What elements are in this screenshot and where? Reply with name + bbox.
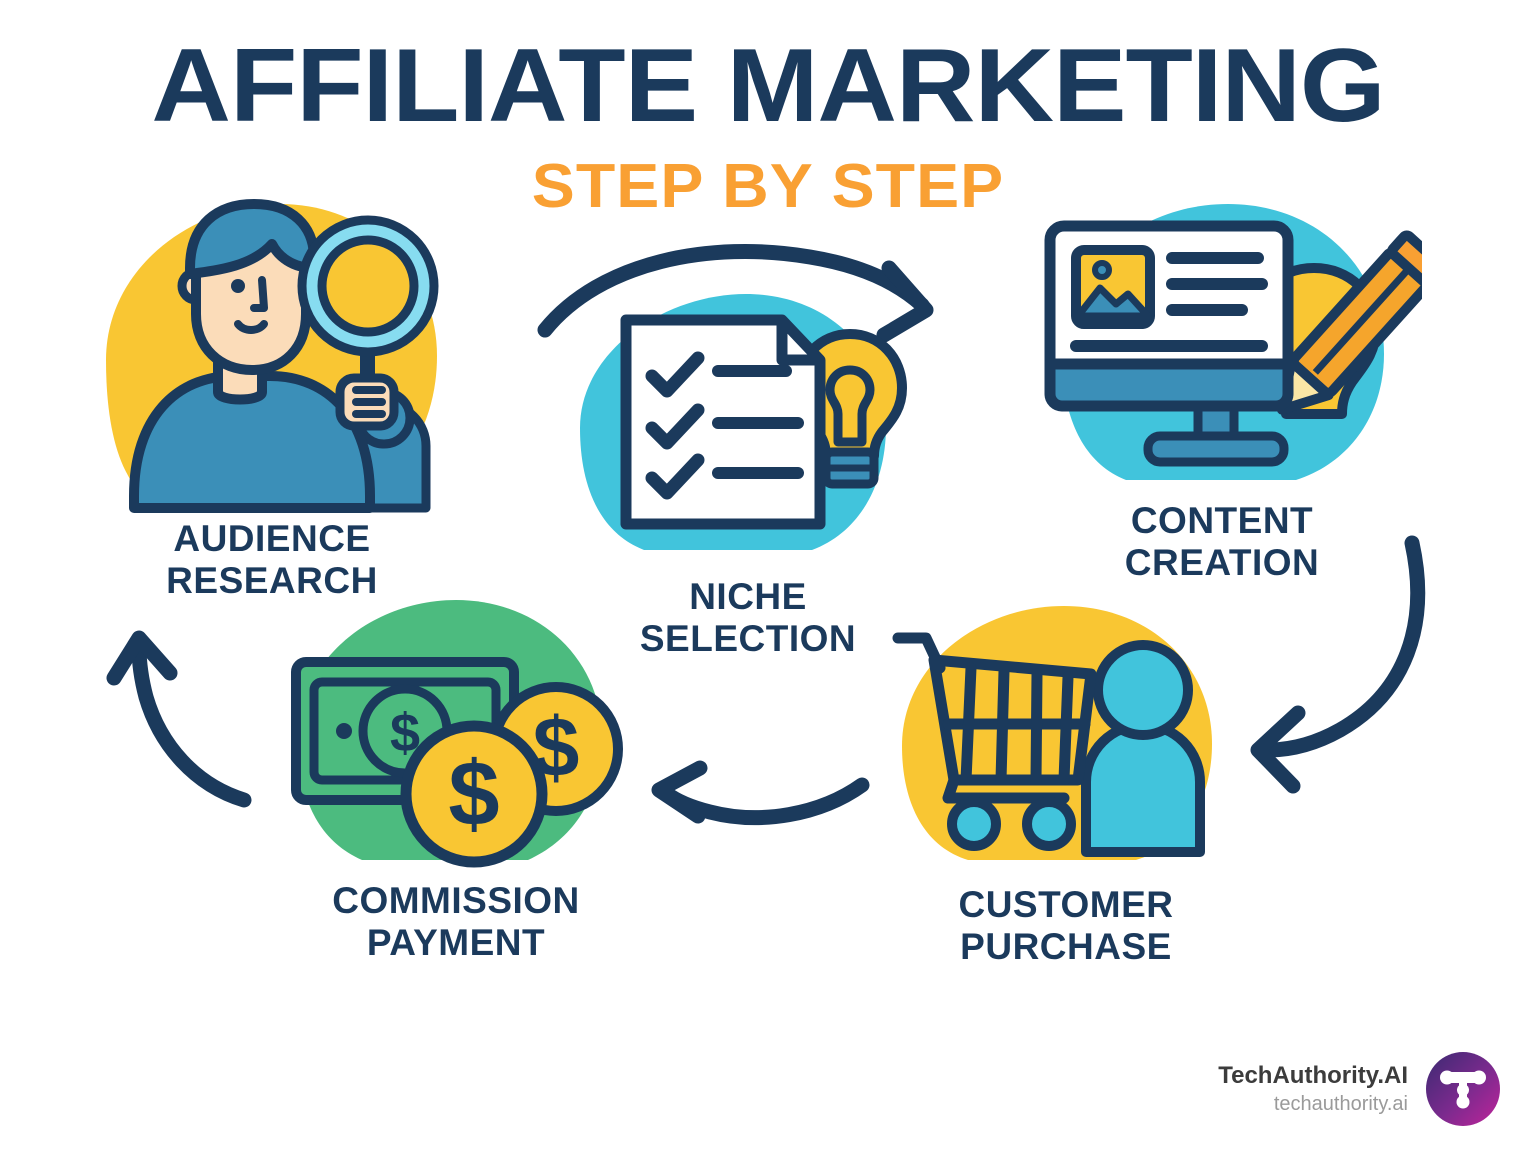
arrow-left bbox=[114, 638, 244, 800]
audience-people-magnifier-icon bbox=[92, 196, 452, 516]
shopping-cart-person-icon bbox=[886, 602, 1246, 872]
title-block: AFFILIATE MARKETING STEP BY STEP bbox=[0, 34, 1536, 222]
step-label-customer-purchase: CUSTOMER PURCHASE bbox=[958, 884, 1173, 968]
page-title: AFFILIATE MARKETING bbox=[0, 34, 1536, 138]
step-content-creation[interactable]: CONTENT CREATION bbox=[1022, 200, 1422, 600]
svg-text:$: $ bbox=[448, 743, 499, 845]
techauthority-logo bbox=[1426, 1052, 1500, 1126]
step-label-commission-payment: COMMISSION PAYMENT bbox=[332, 880, 580, 964]
branding[interactable]: TechAuthority.AI techauthority.ai bbox=[1218, 1052, 1500, 1126]
arrow-bottom bbox=[659, 768, 862, 818]
step-customer-purchase[interactable]: CUSTOMER PURCHASE bbox=[886, 602, 1246, 982]
infographic-canvas: AFFILIATE MARKETING STEP BY STEP bbox=[0, 0, 1536, 1154]
brand-url: techauthority.ai bbox=[1218, 1091, 1408, 1117]
step-commission-payment[interactable]: $ $ $ COMMISSION PAYMENT bbox=[266, 594, 646, 974]
monitor-pencil-bulb-icon bbox=[1022, 200, 1422, 500]
checklist-lightbulb-icon bbox=[568, 288, 928, 568]
banknote-coins-dollar-icon: $ $ $ bbox=[266, 594, 646, 874]
step-label-niche-selection: NICHE SELECTION bbox=[640, 576, 856, 660]
step-label-content-creation: CONTENT CREATION bbox=[1125, 500, 1319, 584]
brand-text: TechAuthority.AI techauthority.ai bbox=[1218, 1061, 1408, 1117]
brand-name: TechAuthority.AI bbox=[1218, 1061, 1408, 1091]
step-label-audience-research: AUDIENCE RESEARCH bbox=[166, 518, 378, 602]
step-audience-research[interactable]: AUDIENCE RESEARCH bbox=[92, 196, 452, 606]
